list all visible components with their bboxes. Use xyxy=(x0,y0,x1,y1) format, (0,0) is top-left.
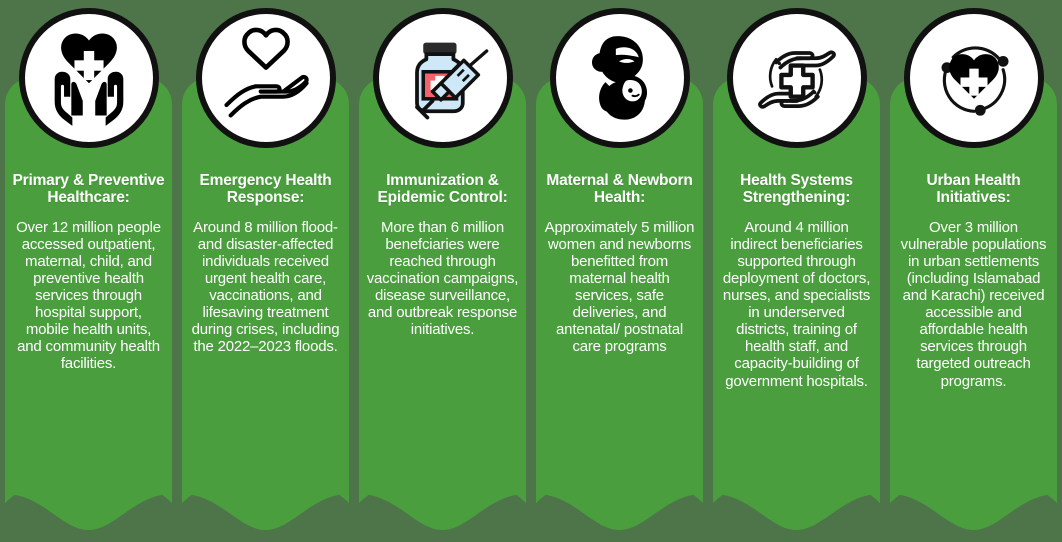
column-body: Around 4 million indirect beneficiaries … xyxy=(714,219,879,390)
column-text: Immunization & Epidemic Control: More th… xyxy=(360,172,525,338)
columns-container: Primary & Preventive Healthcare: Over 12… xyxy=(0,0,1062,542)
icon-medallion xyxy=(373,8,513,148)
column-heading: Urban Health Initiatives: xyxy=(891,172,1056,207)
infographic-column-urban-health-initiatives[interactable]: Urban Health Initiatives: Over 3 million… xyxy=(885,0,1062,542)
column-heading: Immunization & Epidemic Control: xyxy=(360,172,525,207)
column-body: Around 8 million flood- and disaster-aff… xyxy=(183,219,348,356)
column-text: Health Systems Strengthening: Around 4 m… xyxy=(714,172,879,390)
column-text: Urban Health Initiatives: Over 3 million… xyxy=(891,172,1056,390)
column-text: Emergency Health Response: Around 8 mill… xyxy=(183,172,348,355)
infographic-column-primary-preventive-healthcare[interactable]: Primary & Preventive Healthcare: Over 12… xyxy=(0,0,177,542)
column-heading: Maternal & Newborn Health: xyxy=(537,172,702,207)
column-body: Over 3 million vulnerable populations in… xyxy=(891,219,1056,390)
infographic-column-maternal-newborn-health[interactable]: Maternal & Newborn Health: Approximately… xyxy=(531,0,708,542)
hands-holding-heart-cross-icon xyxy=(37,26,141,130)
infographic-column-health-systems-strengthening[interactable]: Health Systems Strengthening: Around 4 m… xyxy=(708,0,885,542)
icon-medallion xyxy=(904,8,1044,148)
column-body: More than 6 million benefciaries were re… xyxy=(360,219,525,339)
column-body: Over 12 million people accessed outpatie… xyxy=(6,219,171,373)
infographic-column-emergency-health-response[interactable]: Emergency Health Response: Around 8 mill… xyxy=(177,0,354,542)
icon-medallion xyxy=(196,8,336,148)
infographic-canvas: Primary & Preventive Healthcare: Over 12… xyxy=(0,0,1062,542)
column-body: Approximately 5 million women and newbor… xyxy=(537,219,702,356)
mother-and-newborn-icon xyxy=(568,26,672,130)
column-heading: Health Systems Strengthening: xyxy=(714,172,879,207)
icon-medallion xyxy=(727,8,867,148)
column-text: Primary & Preventive Healthcare: Over 12… xyxy=(6,172,171,373)
infographic-column-immunization-epidemic-control[interactable]: Immunization & Epidemic Control: More th… xyxy=(354,0,531,542)
column-heading: Emergency Health Response: xyxy=(183,172,348,207)
two-hands-protecting-cross-icon xyxy=(745,26,849,130)
icon-medallion xyxy=(550,8,690,148)
column-text: Maternal & Newborn Health: Approximately… xyxy=(537,172,702,355)
column-heading: Primary & Preventive Healthcare: xyxy=(6,172,171,207)
heart-cross-orbit-atom-icon xyxy=(922,26,1026,130)
hand-holding-heart-outline-icon xyxy=(214,26,318,130)
vaccine-vial-syringe-icon xyxy=(391,26,495,130)
icon-medallion xyxy=(19,8,159,148)
